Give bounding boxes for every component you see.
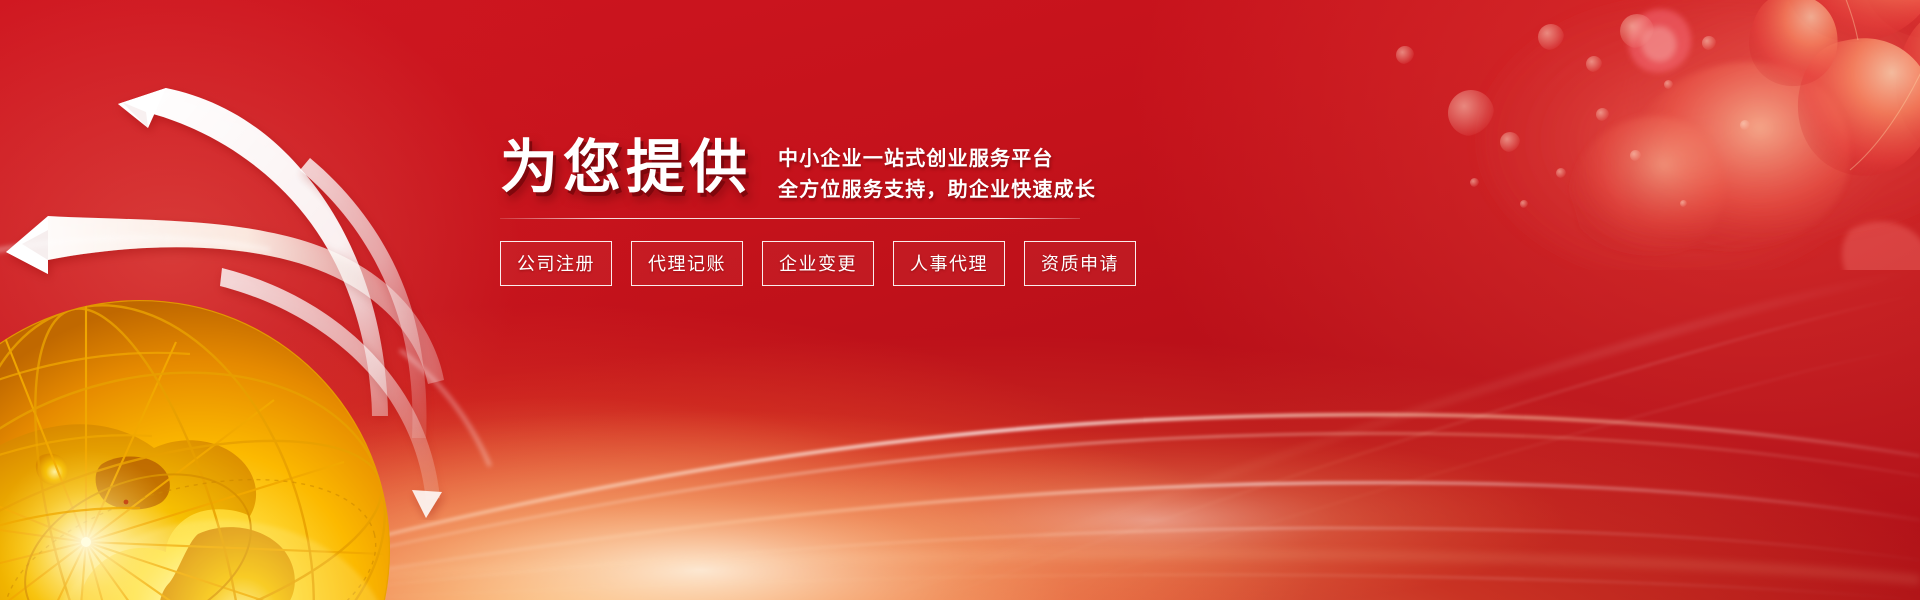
service-tag-button[interactable]: 人事代理	[893, 241, 1005, 286]
light-streak-layer	[0, 0, 1920, 600]
page-title: 为您提供	[500, 138, 752, 199]
service-tag-button[interactable]: 代理记账	[631, 241, 743, 286]
promo-banner: 为您提供 中小企业一站式创业服务平台 全方位服务支持，助企业快速成长 公司注册代…	[0, 0, 1920, 600]
service-tag-button[interactable]: 资质申请	[1024, 241, 1136, 286]
subtitle-block: 中小企业一站式创业服务平台 全方位服务支持，助企业快速成长	[778, 138, 1096, 206]
subtitle-line-1: 中小企业一站式创业服务平台	[778, 144, 1096, 175]
subtitle-line-2: 全方位服务支持，助企业快速成长	[778, 175, 1096, 206]
golden-globe-icon	[0, 250, 450, 600]
globe-decoration-layer	[0, 0, 1920, 600]
light-streak-icon	[0, 270, 1920, 600]
peony-flower-icon	[1380, 0, 1920, 270]
horizontal-divider	[500, 218, 1080, 219]
service-tag-list: 公司注册代理记账企业变更人事代理资质申请	[500, 241, 1120, 286]
banner-content: 为您提供 中小企业一站式创业服务平台 全方位服务支持，助企业快速成长 公司注册代…	[500, 138, 1120, 286]
curved-arrow-icon	[0, 50, 530, 520]
service-tag-button[interactable]: 企业变更	[762, 241, 874, 286]
flower-decoration-layer	[0, 0, 1920, 600]
headline-row: 为您提供 中小企业一站式创业服务平台 全方位服务支持，助企业快速成长	[500, 138, 1120, 206]
arrow-decoration-layer	[0, 0, 1920, 600]
service-tag-button[interactable]: 公司注册	[500, 241, 612, 286]
